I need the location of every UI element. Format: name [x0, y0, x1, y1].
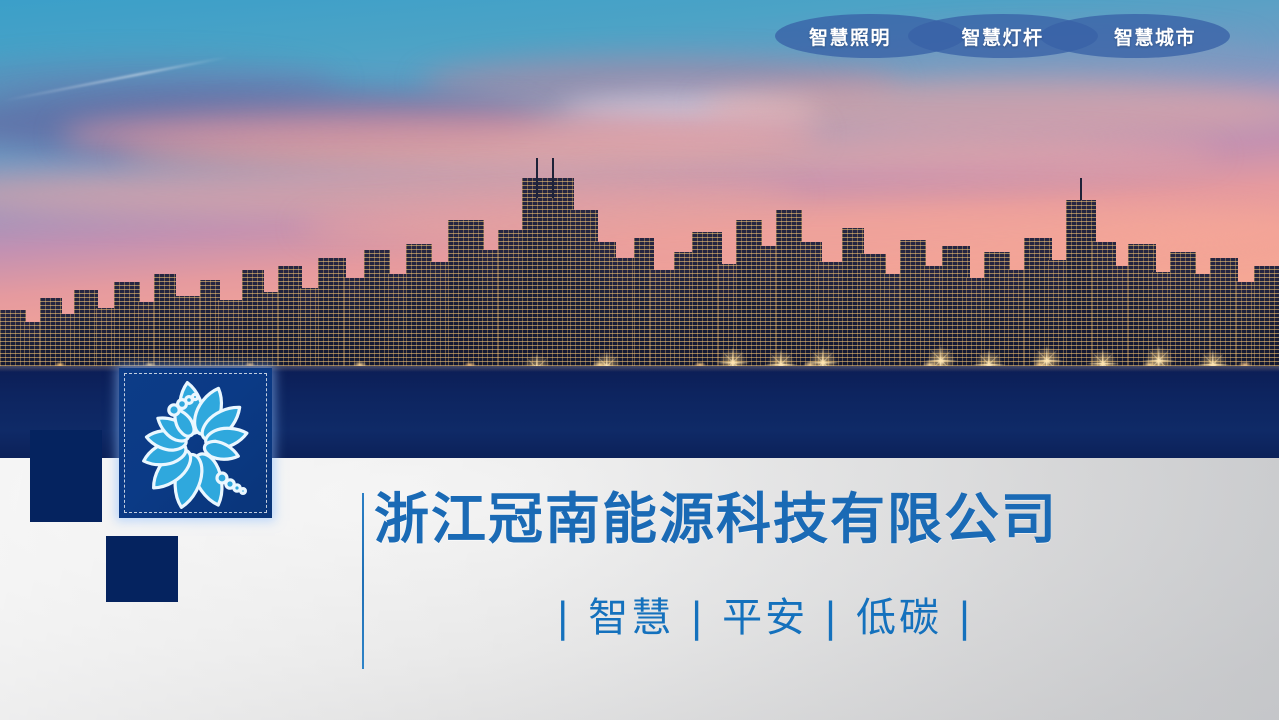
company-logo-card	[119, 368, 272, 518]
decorative-block-small	[106, 536, 178, 602]
feature-tags: 智慧照明 智慧灯杆 智慧城市	[775, 14, 1230, 58]
slide-canvas: 智慧照明 智慧灯杆 智慧城市	[0, 0, 1279, 720]
company-tagline: | 智慧 | 平安 | 低碳 |	[556, 596, 974, 640]
title-accent-line	[362, 493, 364, 669]
tag-smart-pole[interactable]: 智慧灯杆	[961, 23, 1043, 50]
company-logo-petal-spiral	[128, 374, 264, 512]
tag-smart-lighting[interactable]: 智慧照明	[809, 23, 891, 50]
decorative-block-left	[30, 430, 102, 522]
company-title: 浙江冠南能源科技有限公司	[374, 488, 1058, 552]
skyline-buildings	[0, 150, 1279, 370]
tag-smart-city[interactable]: 智慧城市	[1114, 23, 1196, 50]
